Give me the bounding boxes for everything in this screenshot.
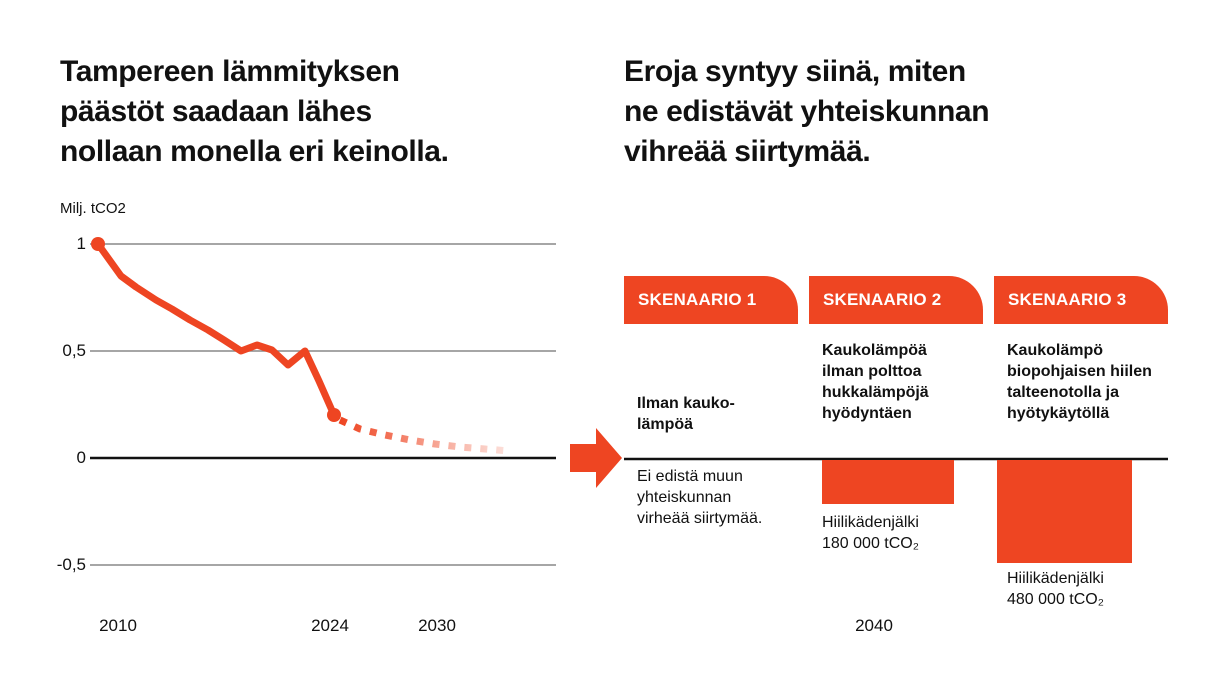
data-point-2010 xyxy=(91,237,105,251)
scenario-2-title: Kaukolämpöä ilman polttoa hukkalämpöjä h… xyxy=(822,340,1002,424)
y-tick-label-1: 1 xyxy=(40,234,86,254)
y-tick-label-05: 0,5 xyxy=(40,341,86,361)
right-headline: Eroja syntyy siinä, miten ne edistävät y… xyxy=(624,52,1114,172)
y-tick-label-neg05: -0,5 xyxy=(40,555,86,575)
left-panel: Tampereen lämmityksen päästöt saadaan lä… xyxy=(0,0,610,688)
scenario-2-banner: SKENAARIO 2 xyxy=(809,276,983,324)
scenario-3-bar xyxy=(997,460,1132,563)
emissions-line-chart: 1 0,5 0 -0,5 2010 2024 2030 xyxy=(0,0,610,688)
data-point-2024 xyxy=(327,408,341,422)
series-line-historical xyxy=(98,244,334,415)
x-tick-label-2010: 2010 xyxy=(78,616,158,636)
y-tick-label-0: 0 xyxy=(40,448,86,468)
scenario-3-banner: SKENAARIO 3 xyxy=(994,276,1168,324)
line-chart-svg xyxy=(0,0,610,688)
x-tick-label-2030: 2030 xyxy=(397,616,477,636)
x-tick-label-2024: 2024 xyxy=(290,616,370,636)
scenario-1-title: Ilman kauko- lämpöä xyxy=(637,393,807,435)
series-line-projection xyxy=(340,420,510,451)
scenario-2-banner-label: SKENAARIO 2 xyxy=(809,290,941,310)
scenario-3-title: Kaukolämpö biopohjaisen hiilen talteenot… xyxy=(1007,340,1197,424)
scenario-1-banner: SKENAARIO 1 xyxy=(624,276,798,324)
scenario-1-note: Ei edistä muun yhteiskunnan virheää siir… xyxy=(637,466,817,529)
scenario-3-bar-caption: Hiilikädenjälki 480 000 tCO₂ xyxy=(1007,568,1197,610)
scenario-2-bar-caption: Hiilikädenjälki 180 000 tCO₂ xyxy=(822,512,1002,554)
scenario-3-banner-label: SKENAARIO 3 xyxy=(994,290,1126,310)
right-panel: Eroja syntyy siinä, miten ne edistävät y… xyxy=(610,0,1228,688)
scenario-1-banner-label: SKENAARIO 1 xyxy=(624,290,756,310)
scenario-2-bar xyxy=(822,460,954,504)
baseline-year-label: 2040 xyxy=(824,616,924,636)
